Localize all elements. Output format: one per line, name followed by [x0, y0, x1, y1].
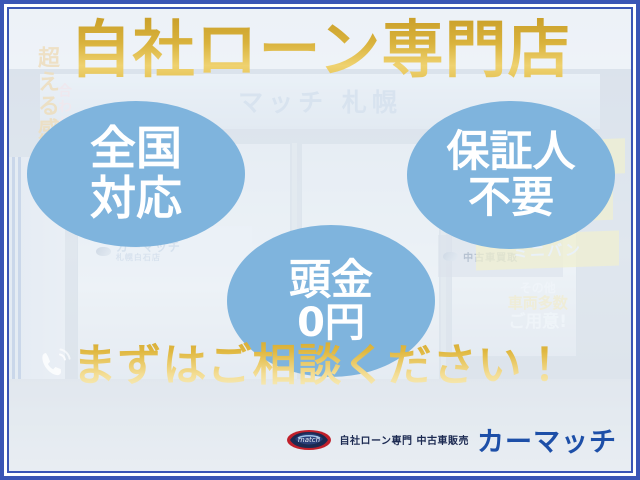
brand-tagline: 自社ローン専門 中古車販売 — [340, 432, 469, 447]
cta-text: まずはご相談ください！ — [9, 329, 631, 393]
badge-hoshonin-line2: 不要 — [468, 175, 554, 221]
svg-text:match: match — [297, 436, 319, 444]
badge-hoshonin: 保証人 不要 — [407, 101, 615, 249]
badge-atamakin-line1: 頭金 — [289, 257, 373, 302]
badge-zenkoku-line2: 対応 — [90, 174, 182, 224]
brand-name: カーマッチ — [477, 420, 617, 459]
badge-zenkoku-line1: 全国 — [90, 124, 182, 174]
banner-stage: マッチ 札幌 カーマッチ 札幌白石店 中古車買取 軽自動車 4WD ミニバン — [9, 9, 631, 471]
ad-banner: マッチ 札幌 カーマッチ 札幌白石店 中古車買取 軽自動車 4WD ミニバン — [0, 0, 640, 480]
page-title: 自社ローン専門店 — [9, 17, 631, 82]
car-icon: match — [286, 428, 332, 452]
badge-hoshonin-line1: 保証人 — [447, 129, 576, 175]
brand-lockup: match 自社ローン専門 中古車販売 カーマッチ — [286, 420, 617, 459]
badge-zenkoku: 全国 対応 — [27, 101, 245, 247]
